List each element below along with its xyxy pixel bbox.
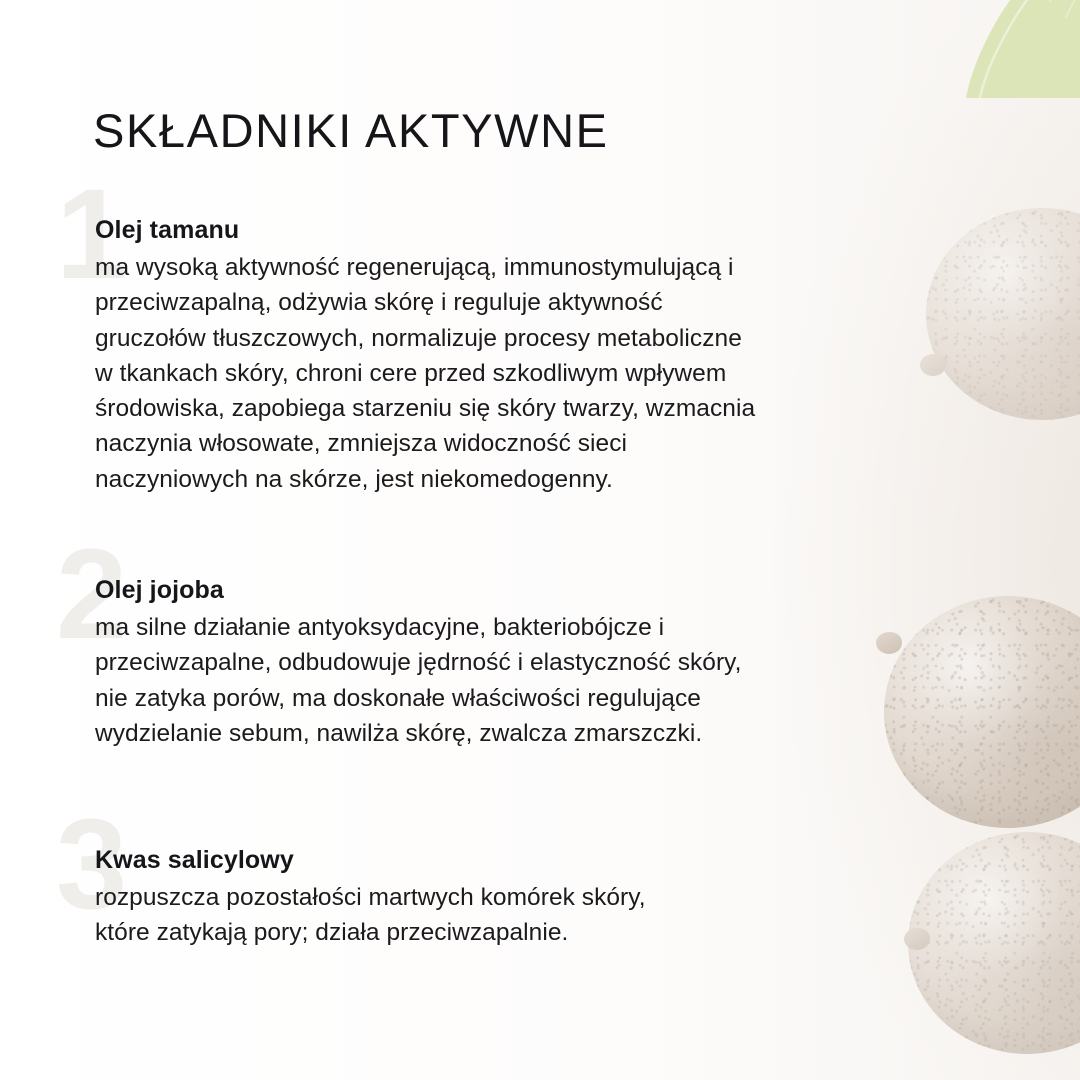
page-content: SKŁADNIKI AKTYWNE 1 Olej tamanu ma wysok… <box>0 0 1080 1080</box>
section-text-block: Olej jojoba ma silne działanie antyoksyd… <box>95 576 955 751</box>
section-text-block: Olej tamanu ma wysoką aktywność regeneru… <box>95 216 955 497</box>
ingredient-heading: Olej jojoba <box>95 576 955 605</box>
ingredient-heading: Kwas salicylowy <box>95 846 955 875</box>
ingredient-heading: Olej tamanu <box>95 216 955 245</box>
ingredient-description: ma silne działanie antyoksydacyjne, bakt… <box>95 610 955 751</box>
ingredient-description: rozpuszcza pozostałości martwych komórek… <box>95 880 955 951</box>
section-text-block: Kwas salicylowy rozpuszcza pozostałości … <box>95 846 955 951</box>
page-title: SKŁADNIKI AKTYWNE <box>93 103 609 158</box>
ingredient-description: ma wysoką aktywność regenerującą, immuno… <box>95 250 955 497</box>
